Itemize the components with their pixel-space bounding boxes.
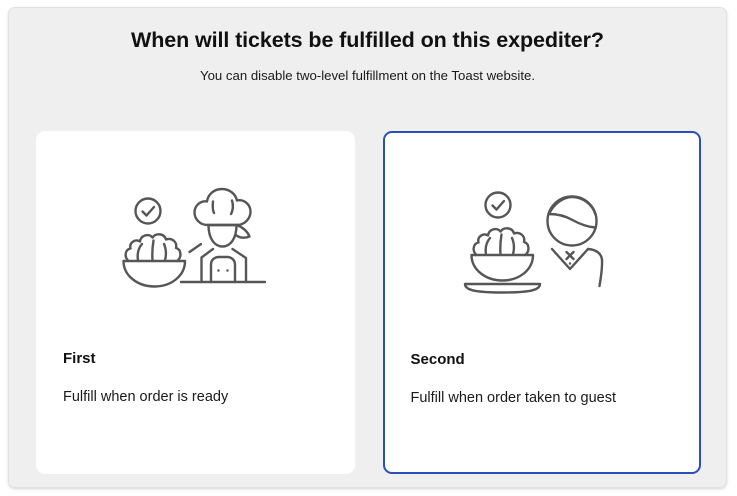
option-card-first-text: First Fulfill when order is ready bbox=[63, 350, 334, 405]
option-card-first-description: Fulfill when order is ready bbox=[63, 367, 334, 405]
screen-root: When will tickets be fulfilled on this e… bbox=[0, 0, 737, 496]
page-subtitle: You can disable two-level fulfillment on… bbox=[9, 53, 726, 83]
fulfillment-settings-panel: When will tickets be fulfilled on this e… bbox=[8, 7, 727, 488]
option-card-first-title: First bbox=[63, 350, 334, 367]
chef-with-salad-bowl-check-icon bbox=[37, 172, 354, 312]
guest-with-served-bowl-check-icon bbox=[385, 173, 700, 313]
option-card-second[interactable]: Second Fulfill when order taken to guest bbox=[383, 131, 702, 474]
page-title: When will tickets be fulfilled on this e… bbox=[9, 8, 726, 53]
option-card-second-text: Second Fulfill when order taken to guest bbox=[411, 351, 680, 406]
option-card-list: First Fulfill when order is ready bbox=[36, 131, 701, 474]
option-card-second-description: Fulfill when order taken to guest bbox=[411, 368, 680, 406]
option-card-first[interactable]: First Fulfill when order is ready bbox=[36, 131, 355, 474]
option-card-second-title: Second bbox=[411, 351, 680, 368]
